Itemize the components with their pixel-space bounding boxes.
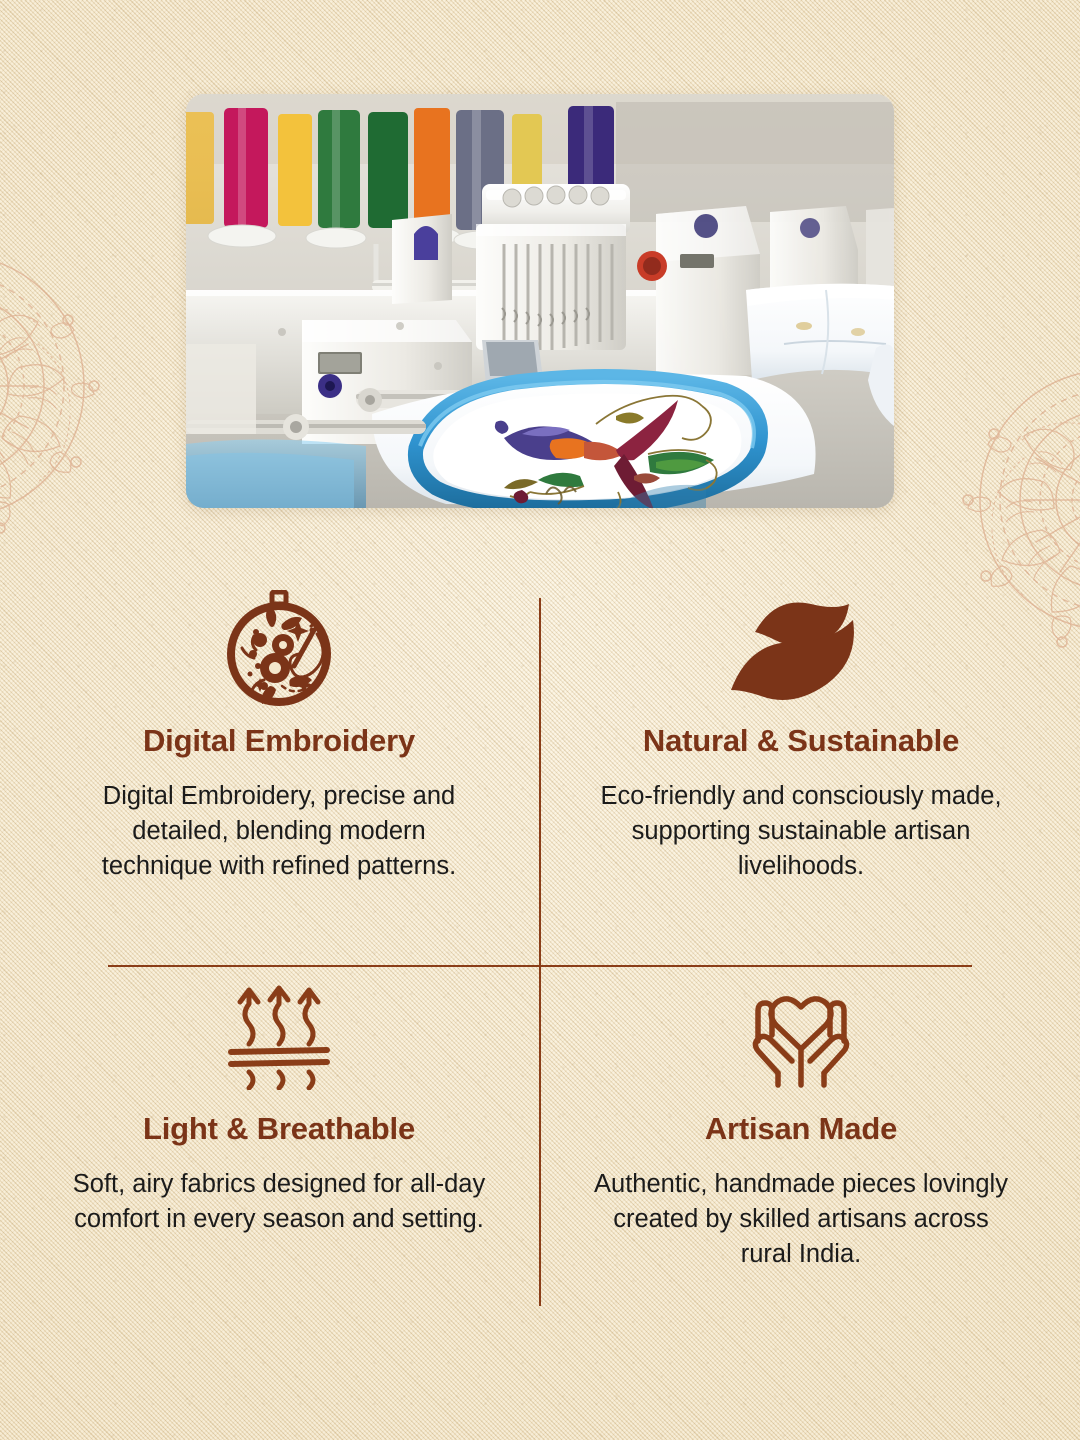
- feature-description: Digital Embroidery, precise and detailed…: [79, 779, 479, 885]
- feature-title: Artisan Made: [705, 1112, 897, 1146]
- feature-description: Eco-friendly and consciously made, suppo…: [595, 779, 1007, 885]
- horizontal-divider: [108, 965, 972, 967]
- embroidery-machine-photo: [186, 94, 894, 508]
- breathable-fabric-icon: [227, 978, 331, 1096]
- hands-holding-heart-icon: [748, 978, 854, 1096]
- feature-description: Soft, airy fabrics designed for all-day …: [70, 1167, 488, 1237]
- feature-title: Natural & Sustainable: [643, 724, 959, 758]
- feature-natural-sustainable: Natural & Sustainable Eco-friendly and c…: [566, 590, 1036, 885]
- vertical-divider: [539, 598, 541, 1306]
- feature-digital-embroidery: Digital Embroidery Digital Embroidery, p…: [44, 590, 514, 885]
- leaf-icon: [727, 590, 875, 708]
- feature-title: Light & Breathable: [143, 1112, 415, 1146]
- feature-grid: Digital Embroidery Digital Embroidery, p…: [0, 560, 1080, 1340]
- feature-description: Authentic, handmade pieces lovingly crea…: [592, 1167, 1010, 1273]
- embroidery-hoop-icon: [220, 590, 338, 708]
- feature-light-breathable: Light & Breathable Soft, airy fabrics de…: [44, 978, 514, 1237]
- feature-artisan-made: Artisan Made Authentic, handmade pieces …: [566, 978, 1036, 1273]
- feature-title: Digital Embroidery: [143, 724, 415, 758]
